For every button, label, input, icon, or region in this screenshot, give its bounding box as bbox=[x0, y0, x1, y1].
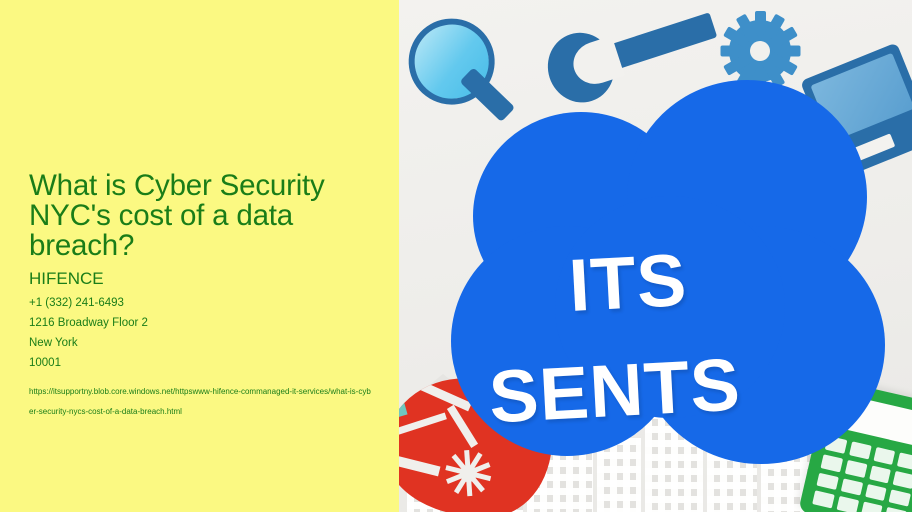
cloud-text-line1: ITS bbox=[567, 243, 689, 323]
contact-address-line1: 1216 Broadway Floor 2 bbox=[29, 313, 379, 333]
right-image-panel: ITS SENTS bbox=[399, 0, 912, 512]
contact-address-zip: 10001 bbox=[29, 353, 379, 373]
cloud-shape: ITS SENTS bbox=[451, 76, 885, 480]
gear-icon bbox=[729, 20, 791, 82]
slide-root: What is Cyber Security NYC's cost of a d… bbox=[0, 0, 912, 512]
text-block: What is Cyber Security NYC's cost of a d… bbox=[29, 171, 379, 421]
page-title: What is Cyber Security NYC's cost of a d… bbox=[29, 171, 374, 261]
contact-address-city: New York bbox=[29, 333, 379, 353]
contact-phone: +1 (332) 241-6493 bbox=[29, 293, 379, 313]
source-url[interactable]: https://itsupportny.blob.core.windows.ne… bbox=[29, 382, 374, 421]
left-text-panel: What is Cyber Security NYC's cost of a d… bbox=[0, 0, 399, 512]
brand-name: HIFENCE bbox=[29, 269, 379, 288]
cloud-text-line2: SENTS bbox=[487, 347, 742, 434]
